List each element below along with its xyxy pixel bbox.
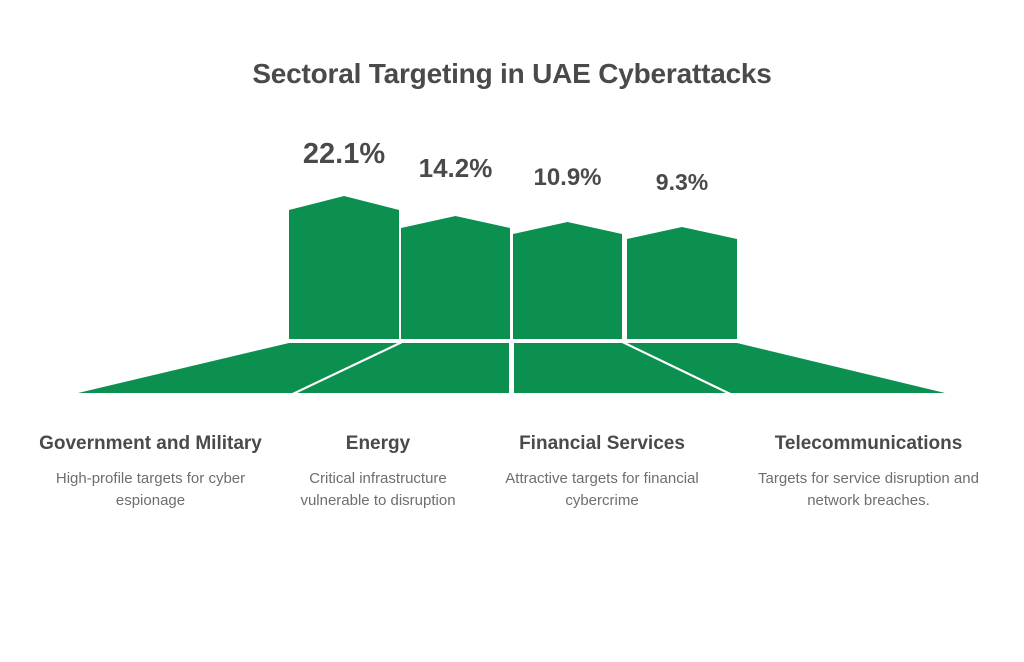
bar-1: [401, 216, 510, 339]
legend-description-2: Attractive targets for financial cybercr…: [481, 468, 723, 511]
legend-label-2: Financial Services: [481, 432, 723, 456]
legend-item-2: Financial Services Attractive targets fo…: [473, 432, 731, 511]
bar-value-label-2: 10.9%: [533, 164, 601, 191]
perspective-base: [78, 343, 945, 393]
legend-description-3: Targets for service disruption and netwo…: [739, 468, 998, 511]
legend-description-1: Critical infrastructure vulnerable to di…: [291, 468, 465, 511]
legend-item-0: Government and Military High-profile tar…: [18, 432, 283, 511]
legend-description-0: High-profile targets for cyber espionage: [26, 468, 275, 511]
bar-0: [289, 196, 399, 339]
bar-2: [513, 222, 622, 339]
legend-label-1: Energy: [291, 432, 465, 456]
legend-item-1: Energy Critical infrastructure vulnerabl…: [283, 432, 473, 511]
bar-value-label-0: 22.1%: [303, 138, 385, 170]
bar-3: [627, 227, 737, 339]
sectoral-targeting-chart: 22.1%14.2%10.9%9.3%: [0, 0, 1024, 662]
infographic-canvas: Sectoral Targeting in UAE Cyberattacks 2…: [0, 0, 1024, 662]
bar-value-label-1: 14.2%: [419, 153, 493, 183]
legend-label-3: Telecommunications: [739, 432, 998, 456]
bar-series: [289, 196, 737, 339]
value-label-series: 22.1%14.2%10.9%9.3%: [303, 138, 708, 195]
legend-label-0: Government and Military: [26, 432, 275, 456]
category-legend: Government and Military High-profile tar…: [0, 432, 1024, 511]
legend-item-3: Telecommunications Targets for service d…: [731, 432, 1006, 511]
bar-value-label-3: 9.3%: [656, 169, 708, 195]
